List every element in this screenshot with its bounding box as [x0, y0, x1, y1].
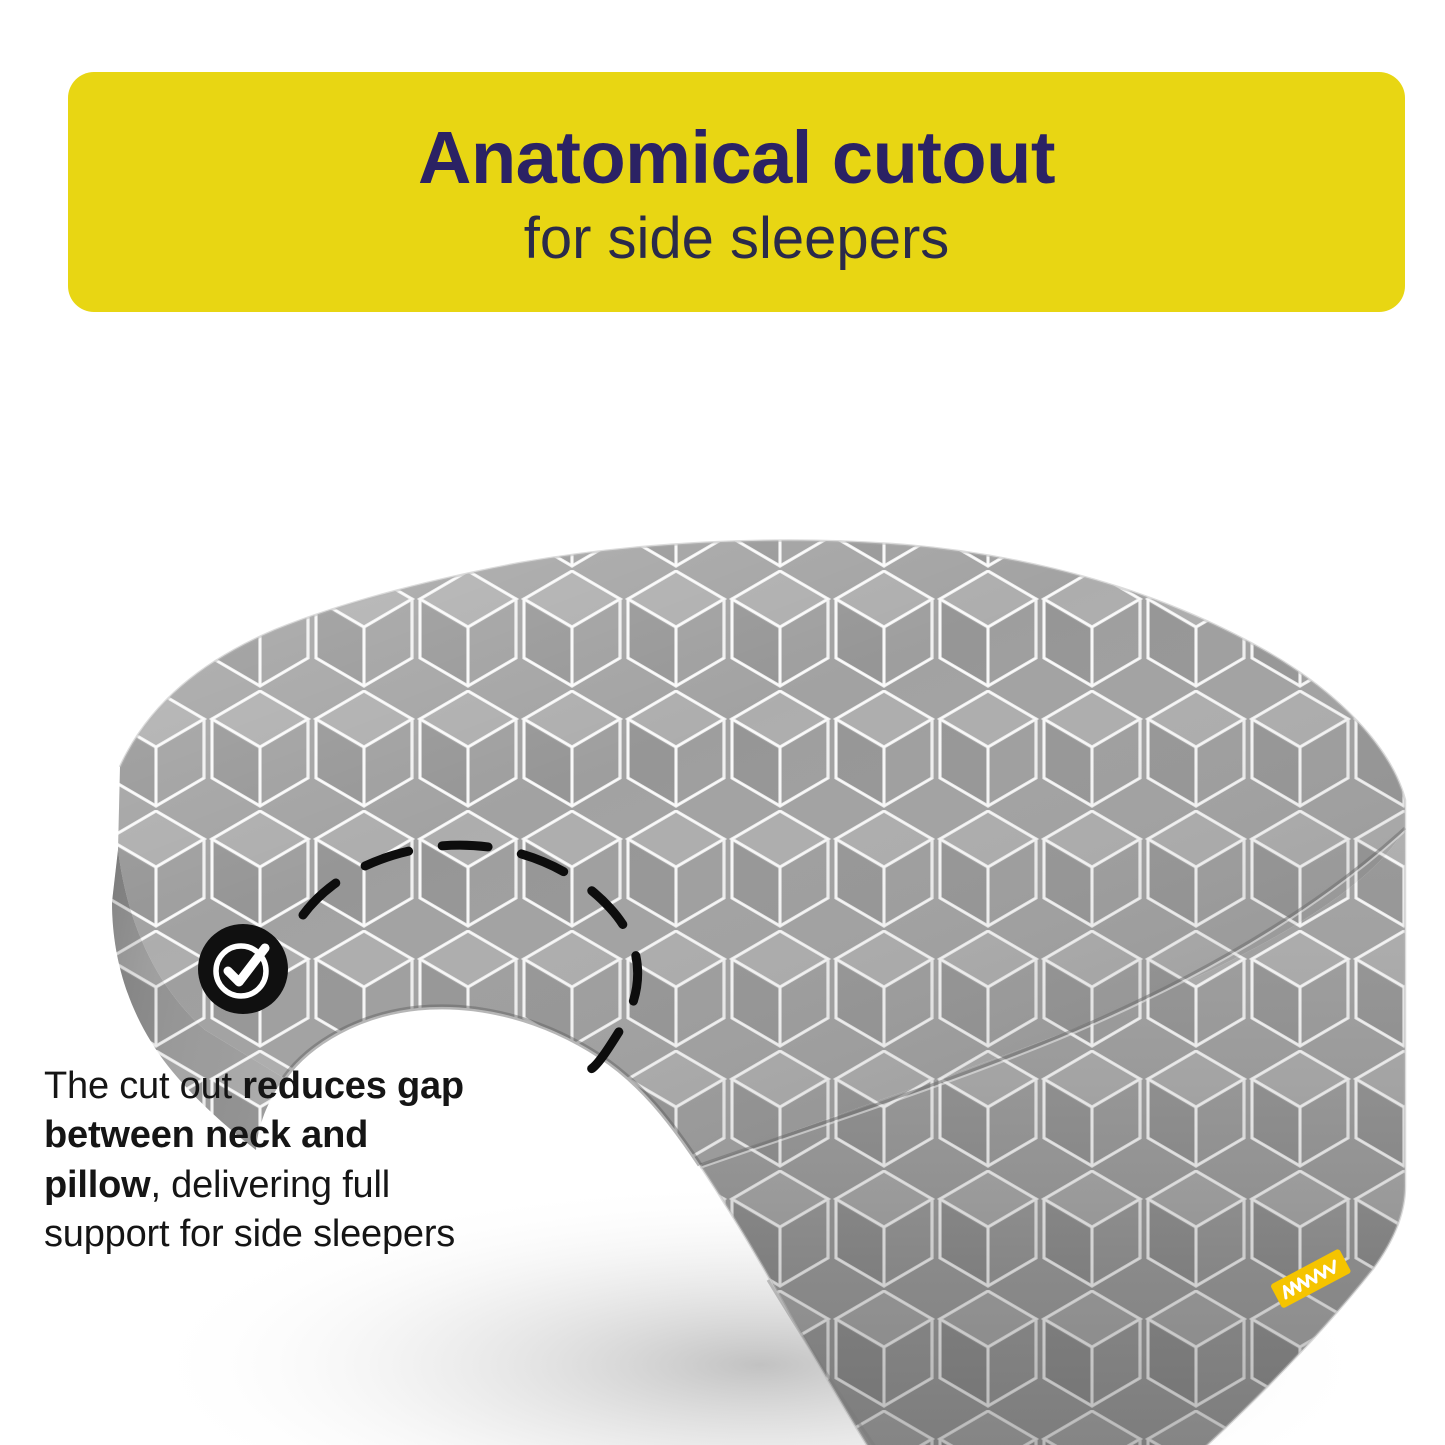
headline-banner: Anatomical cutout for side sleepers: [68, 72, 1405, 312]
pillow-illustration: [0, 330, 1445, 1445]
banner-title: Anatomical cutout: [418, 120, 1055, 195]
check-circle-icon: [198, 924, 288, 1014]
marketing-image: Anatomical cutout for side sleepers: [0, 0, 1445, 1445]
banner-subtitle: for side sleepers: [524, 209, 950, 270]
product-photo: [0, 330, 1445, 1445]
caption-text: The cut out reduces gap between neck and…: [44, 1062, 494, 1260]
caption-segment-0: The cut out: [44, 1065, 242, 1107]
